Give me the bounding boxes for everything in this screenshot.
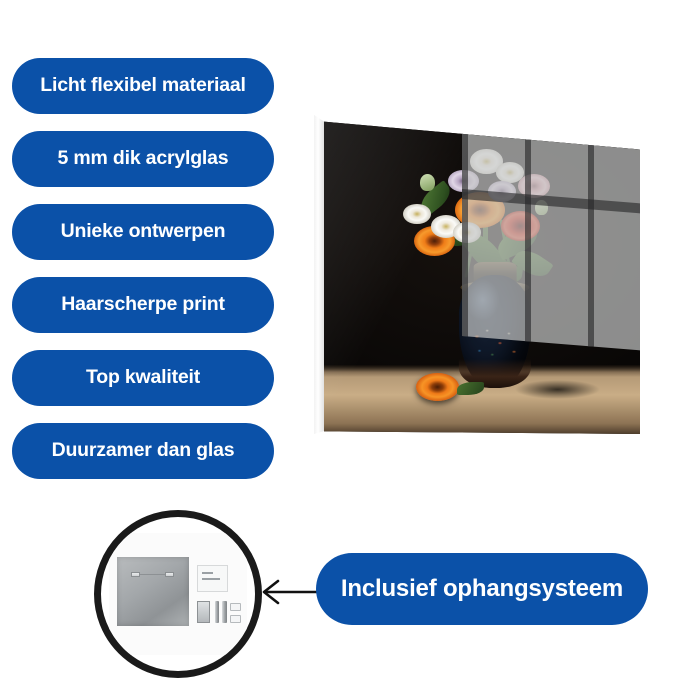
mounting-plate [117, 557, 189, 625]
screw [222, 601, 226, 623]
feature-badge-label: Licht flexibel materiaal [40, 76, 245, 96]
white-daisy [403, 204, 431, 225]
plate-slot [165, 572, 174, 577]
feature-badge-more-durable-than-glass[interactable]: Duurzamer dan glas [12, 423, 274, 479]
decorated-vase [459, 275, 531, 388]
spacer [230, 615, 241, 624]
spacer [230, 603, 241, 612]
feature-badge-label: Unieke ontwerpen [61, 222, 226, 242]
lilac-aster [448, 170, 478, 193]
feature-badge-top-quality[interactable]: Top kwaliteit [12, 350, 274, 406]
lilac-aster [488, 181, 516, 202]
bud [420, 174, 435, 191]
vase-shadow [515, 380, 600, 399]
panel-thickness-edge [314, 110, 325, 434]
feature-badge-label: 5 mm dik acrylglas [58, 149, 229, 169]
feature-badge-thickness[interactable]: 5 mm dik acrylglas [12, 131, 274, 187]
artwork-scene [324, 110, 640, 434]
instruction-leaflet [197, 565, 227, 592]
screw [215, 601, 219, 623]
hanging-kit-photo [109, 533, 247, 655]
bud [535, 200, 548, 215]
feature-badge-list: Licht flexibel materiaal 5 mm dik acrylg… [12, 58, 274, 496]
callout-arrow-icon [258, 575, 320, 609]
feature-badge-label: Duurzamer dan glas [52, 441, 235, 461]
hanging-system-callout-badge[interactable]: Inclusief ophangsysteem [316, 553, 648, 625]
wall-plug-pack [197, 601, 209, 623]
red-dahlia [501, 211, 540, 241]
feature-badge-label: Top kwaliteit [86, 368, 200, 388]
fallen-orange-flower [416, 373, 459, 401]
feature-badge-light-flexible-material[interactable]: Licht flexibel materiaal [12, 58, 274, 114]
product-panel[interactable] [306, 100, 646, 450]
panel-stage [306, 100, 646, 450]
plate-slot [131, 572, 140, 577]
hanging-system-callout-label: Inclusief ophangsysteem [341, 577, 623, 601]
feature-badge-sharp-print[interactable]: Haarscherpe print [12, 277, 274, 333]
white-daisy [453, 222, 481, 243]
artwork-face [324, 110, 640, 434]
feature-badge-label: Haarscherpe print [61, 295, 225, 315]
pink-carnation [518, 174, 551, 198]
hanging-kit-circle[interactable] [94, 510, 262, 678]
feature-badge-unique-designs[interactable]: Unieke ontwerpen [12, 204, 274, 260]
